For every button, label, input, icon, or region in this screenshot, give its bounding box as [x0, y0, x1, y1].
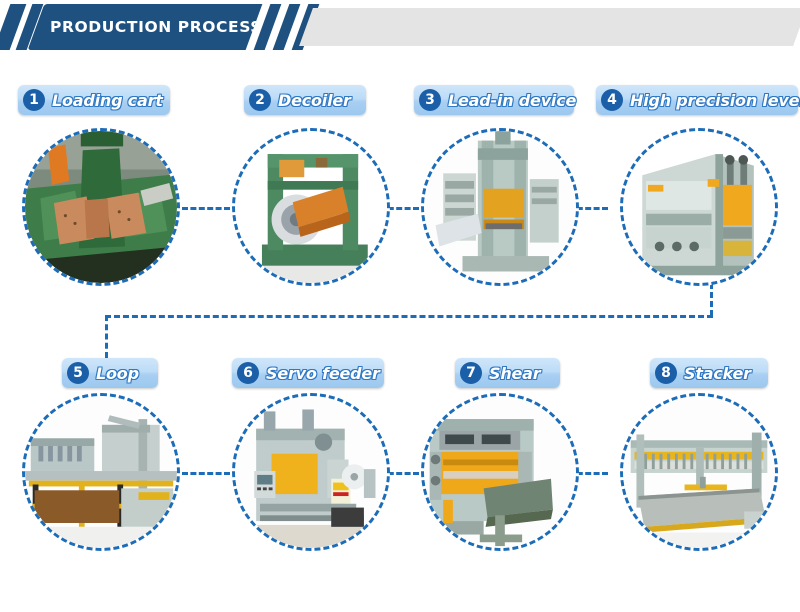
step-5-label[interactable]: 5 Loop — [62, 358, 158, 388]
step-7-badge: 7 — [460, 362, 482, 384]
step-7-title: Shear — [489, 364, 540, 383]
header-banner: PRODUCTION PROCESS — [0, 0, 800, 54]
step-7-image[interactable] — [421, 393, 579, 551]
loading-cart-photo — [25, 131, 177, 283]
connector-4-5-drop — [105, 315, 108, 358]
high-precision-leveler-photo — [623, 131, 775, 283]
lead-in-device-photo — [424, 131, 576, 283]
step-5-badge: 5 — [67, 362, 89, 384]
banner-gray-bar — [299, 8, 800, 46]
connector-5-6 — [182, 472, 230, 475]
step-7-label[interactable]: 7 Shear — [455, 358, 560, 388]
step-3-title: Lead-in device — [448, 91, 576, 110]
connector-1-2 — [182, 207, 230, 210]
step-1-image[interactable] — [22, 128, 180, 286]
step-4-label[interactable]: 4 High precision leveler — [596, 85, 798, 115]
step-8-image[interactable] — [620, 393, 778, 551]
step-5-title: Loop — [96, 364, 139, 383]
step-1-title: Loading cart — [52, 91, 163, 110]
servo-feeder-photo — [235, 396, 387, 548]
step-1-label[interactable]: 1 Loading cart — [18, 85, 170, 115]
connector-4-5-down — [710, 283, 713, 316]
step-6-label[interactable]: 6 Servo feeder — [232, 358, 384, 388]
step-4-image[interactable] — [620, 128, 778, 286]
step-2-badge: 2 — [249, 89, 271, 111]
step-8-label[interactable]: 8 Stacker — [650, 358, 768, 388]
stacker-photo — [623, 396, 775, 548]
step-1-badge: 1 — [23, 89, 45, 111]
step-4-badge: 4 — [601, 89, 623, 111]
step-3-image[interactable] — [421, 128, 579, 286]
step-2-title: Decoiler — [278, 91, 351, 110]
step-2-label[interactable]: 2 Decoiler — [244, 85, 366, 115]
step-6-title: Servo feeder — [266, 364, 380, 383]
step-2-image[interactable] — [232, 128, 390, 286]
step-6-badge: 6 — [237, 362, 259, 384]
page-title: PRODUCTION PROCESS — [50, 4, 260, 50]
step-8-badge: 8 — [655, 362, 677, 384]
step-5-image[interactable] — [22, 393, 180, 551]
step-3-badge: 3 — [419, 89, 441, 111]
loop-photo — [25, 396, 177, 548]
step-8-title: Stacker — [684, 364, 751, 383]
shear-photo — [424, 396, 576, 548]
step-4-title: High precision leveler — [630, 91, 800, 110]
step-6-image[interactable] — [232, 393, 390, 551]
connector-4-5-across — [105, 315, 713, 318]
decoiler-photo — [235, 131, 387, 283]
step-3-label[interactable]: 3 Lead-in device — [414, 85, 574, 115]
